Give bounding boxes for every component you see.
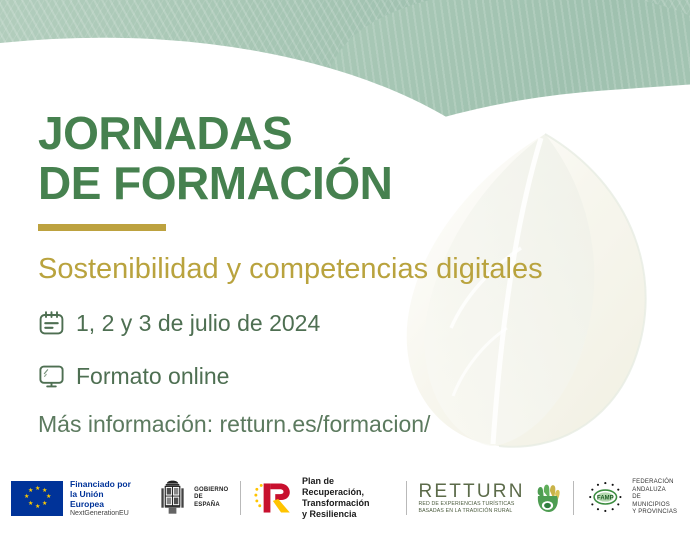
eu-funding-line2: la Unión Europea	[70, 489, 136, 509]
prtr-line2: Transformación	[302, 498, 396, 509]
logo-gobierno-espana: GOBIERNO DE ESPAÑA	[147, 478, 240, 518]
famp-line4: Y PROVINCIAS	[632, 509, 679, 517]
retturn-tagline-line1: RED DE EXPERIENCIAS TURÍSTICAS	[418, 501, 524, 508]
spain-coat-of-arms-icon	[158, 478, 187, 518]
famp-line1: FEDERACIÓN	[632, 479, 679, 487]
calendar-icon	[38, 310, 65, 337]
eu-flag-icon: ★ ★ ★ ★ ★ ★ ★ ★	[11, 481, 63, 516]
prtr-line1: Plan de Recuperación,	[302, 476, 396, 498]
logo-eu-funding: ★ ★ ★ ★ ★ ★ ★ ★ Financiado por la Unión …	[0, 479, 147, 518]
gold-divider-rule	[38, 224, 166, 231]
monitor-icon	[38, 363, 65, 390]
footer-logo-strip: ★ ★ ★ ★ ★ ★ ★ ★ Financiado por la Unión …	[0, 462, 690, 534]
event-date-text: 1, 2 y 3 de julio de 2024	[76, 310, 320, 337]
gobierno-line2: DE ESPAÑA	[194, 494, 229, 509]
logo-famp: FAMP FEDERACIÓN ANDALUZA DE MUNICIPIOS Y…	[574, 479, 690, 517]
event-date-row: 1, 2 y 3 de julio de 2024	[38, 310, 320, 337]
prtr-line3: y Resiliencia	[302, 509, 396, 520]
gobierno-line1: GOBIERNO	[194, 487, 229, 495]
retturn-tagline-line2: BASADAS EN LA TRADICIÓN RURAL	[418, 508, 524, 515]
eu-funding-line1: Financiado por	[70, 479, 136, 489]
famp-line2: ANDALUZA	[632, 487, 679, 495]
page-title: JORNADAS DE FORMACIÓN	[38, 108, 392, 208]
event-format-text: Formato online	[76, 363, 229, 390]
famp-line3: DE MUNICIPIOS	[632, 494, 679, 509]
more-info-text[interactable]: Más información: retturn.es/formacion/	[38, 411, 430, 438]
logo-retturn: RETTURN RED DE EXPERIENCIAS TURÍSTICAS B…	[407, 480, 572, 516]
logo-plan-recuperacion: Plan de Recuperación, Transformación y R…	[241, 476, 406, 520]
poster-root: JORNADAS DE FORMACIÓN Sostenibilidad y c…	[0, 0, 690, 534]
eu-funding-line3: NextGenerationEU	[70, 509, 136, 518]
event-format-row: Formato online	[38, 363, 229, 390]
poster-content: JORNADAS DE FORMACIÓN Sostenibilidad y c…	[0, 0, 690, 534]
prtr-r-icon	[252, 478, 295, 518]
famp-emblem-icon: FAMP	[585, 479, 626, 517]
hand-leaf-icon	[532, 480, 562, 516]
famp-mark-text: FAMP	[597, 495, 614, 501]
retturn-wordmark: RETTURN	[418, 482, 524, 501]
page-subtitle: Sostenibilidad y competencias digitales	[38, 252, 543, 286]
